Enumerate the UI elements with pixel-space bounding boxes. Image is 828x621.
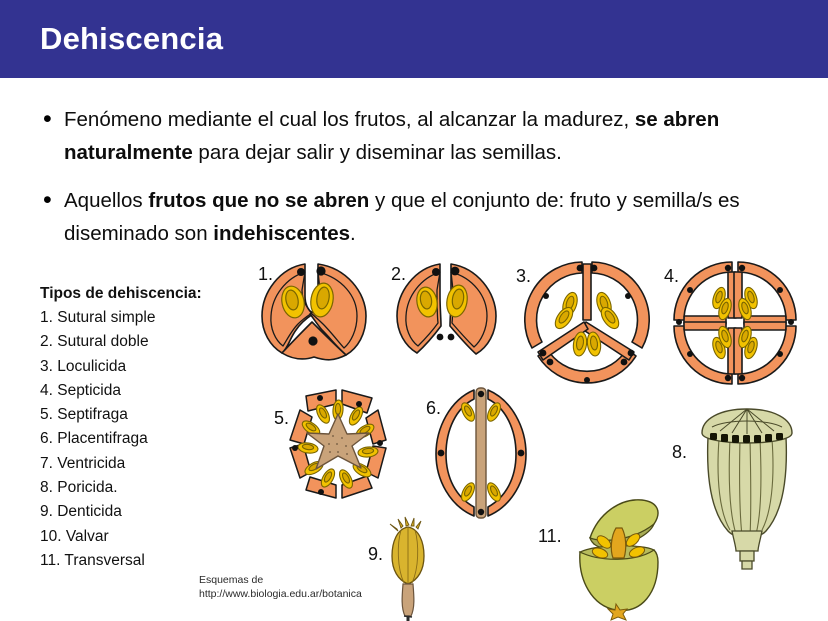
diagram-5-graphic <box>270 386 395 521</box>
type-item-10: 10. Valvar <box>40 525 250 549</box>
type-item-8: 8. Poricida. <box>40 476 250 500</box>
type-item-2: 2. Sutural doble <box>40 330 250 354</box>
type-item-7: 7. Ventricida <box>40 452 250 476</box>
type-item-3: 3. Loculicida <box>40 355 250 379</box>
diagram-11-number: 11. <box>538 526 562 547</box>
type-item-11: 11. Transversal <box>40 549 250 573</box>
bullet-text-1: Fenómeno mediante el cual los frutos, al… <box>64 103 798 169</box>
diagram-3-graphic <box>514 256 659 388</box>
diagram-1-number: 1. <box>258 264 273 285</box>
star-column <box>307 414 369 469</box>
bullet-emphasis: indehiscentes <box>213 222 350 245</box>
type-item-5: 5. Septifraga <box>40 403 250 427</box>
diagram-11-transversal: 11. <box>538 496 683 621</box>
dehiscence-diagram-figure: 1. <box>250 258 828 621</box>
diagram-2-number: 2. <box>391 264 406 285</box>
central-septum <box>476 388 486 518</box>
diagram-4-septicida: 4. <box>662 256 807 388</box>
bullet-text-2: Aquellos frutos que no se abren y que el… <box>64 184 798 250</box>
diagram-6-placentifraga: 6. <box>422 384 537 522</box>
types-list-items: 1. Sutural simple2. Sutural doble3. Locu… <box>40 306 250 573</box>
diagram-3-number: 3. <box>516 266 531 287</box>
diagram-4-graphic <box>662 256 807 388</box>
bullet-run: para dejar salir y diseminar las semilla… <box>193 141 562 164</box>
diagram-1-sutural-simple: 1. <box>250 258 380 363</box>
page-title: Dehiscencia <box>40 21 223 57</box>
diagram-6-number: 6. <box>426 398 441 419</box>
bullet-item: • Aquellos frutos que no se abren y que … <box>38 184 798 250</box>
type-item-1: 1. Sutural simple <box>40 306 250 330</box>
diagram-9-graphic <box>368 516 448 621</box>
diagram-9-number: 9. <box>368 544 383 565</box>
diagram-4-number: 4. <box>664 266 679 287</box>
bullet-emphasis: frutos que no se abren <box>148 189 369 212</box>
bullet-marker: • <box>38 103 64 135</box>
bullet-list: • Fenómeno mediante el cual los frutos, … <box>38 103 798 265</box>
bullet-run: . <box>350 222 356 245</box>
diagram-11-graphic <box>538 496 683 621</box>
bullet-item: • Fenómeno mediante el cual los frutos, … <box>38 103 798 169</box>
type-item-9: 9. Denticida <box>40 500 250 524</box>
diagram-2-sutural-doble: 2. <box>383 258 513 363</box>
types-list: Tipos de dehiscencia: 1. Sutural simple2… <box>40 283 250 573</box>
diagram-5-septifraga: 5. <box>270 386 395 521</box>
types-list-heading: Tipos de dehiscencia: <box>40 283 250 305</box>
diagram-9-denticida: 9. <box>368 516 448 621</box>
diagram-8-graphic <box>672 389 822 569</box>
type-item-4: 4. Septicida <box>40 379 250 403</box>
bullet-marker: • <box>38 184 64 216</box>
diagram-3-loculicida: 3. <box>514 256 659 388</box>
diagram-5-number: 5. <box>274 408 289 429</box>
diagram-8-poricida: 8. <box>672 389 822 569</box>
bullet-run: Fenómeno mediante el cual los frutos, al… <box>64 108 635 131</box>
type-item-6: 6. Placentifraga <box>40 427 250 451</box>
diagram-8-number: 8. <box>672 442 687 463</box>
bullet-run: Aquellos <box>64 189 148 212</box>
